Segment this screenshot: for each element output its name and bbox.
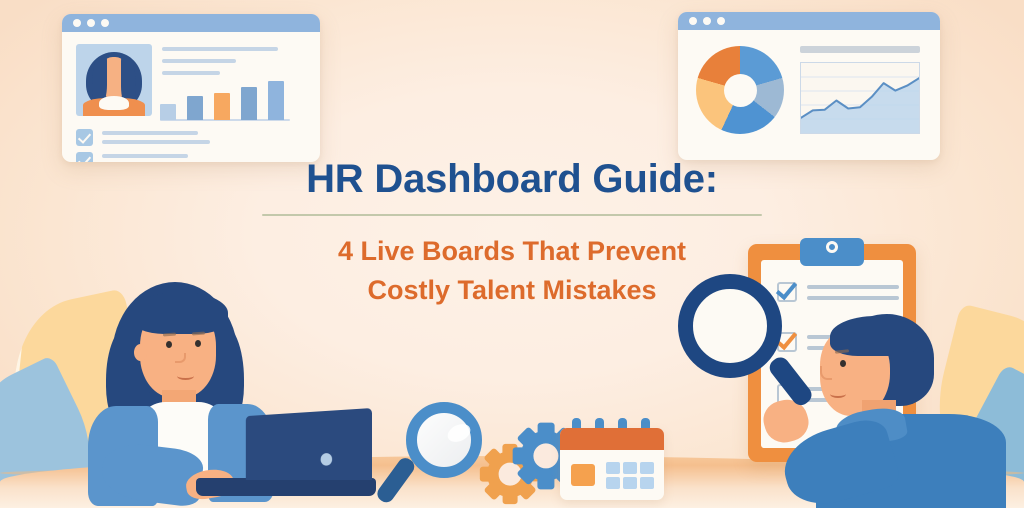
page-title: HR Dashboard Guide: — [0, 158, 1024, 200]
calendar-cell — [640, 462, 654, 474]
bar-chart-bar — [268, 81, 284, 120]
magnifying-glass-lens — [406, 402, 482, 478]
window-dot-close[interactable] — [689, 17, 697, 25]
bar-chart-bar — [187, 96, 203, 120]
laptop-logo — [321, 453, 332, 466]
laptop — [196, 408, 376, 504]
window-dot-maximize[interactable] — [101, 19, 109, 27]
employee-profile-dashboard-card — [62, 14, 320, 162]
bar-chart-bar — [160, 104, 176, 120]
woman-hair-fringe — [132, 292, 228, 334]
window-dot-minimize[interactable] — [703, 17, 711, 25]
window-dot-close[interactable] — [73, 19, 81, 27]
clipboard-clasp-hole — [826, 241, 838, 253]
calendar-cell — [640, 477, 654, 489]
calendar-cell — [623, 462, 637, 474]
calendar-header — [560, 428, 664, 450]
calendar-icon[interactable] — [560, 418, 664, 500]
woman-ear — [134, 344, 147, 361]
calendar-cell — [606, 462, 620, 474]
line-chart-area — [801, 78, 919, 133]
analytics-dashboard-card — [678, 12, 940, 160]
line-chart-svg — [801, 63, 919, 133]
line-chart — [800, 62, 920, 134]
donut-chart-center — [724, 74, 757, 107]
magnifying-glass-lens — [678, 274, 782, 378]
donut-chart — [696, 46, 784, 134]
woman-eye-left — [166, 341, 172, 348]
man-nose — [820, 366, 832, 380]
calendar-cell — [606, 477, 620, 489]
window-dot-maximize[interactable] — [717, 17, 725, 25]
window-dot-minimize[interactable] — [87, 19, 95, 27]
window-title-bar — [62, 14, 320, 32]
woman-mouth — [177, 372, 194, 380]
magnifying-glass-icon — [678, 274, 800, 410]
bar-chart-bar — [241, 87, 257, 120]
checkbox-checked-icon[interactable] — [76, 129, 93, 146]
profile-text-line — [162, 59, 236, 63]
laptop-screen — [246, 408, 372, 480]
profile-text-line — [162, 71, 220, 75]
magnifying-glass-icon[interactable] — [392, 402, 482, 502]
profile-text-line — [162, 47, 278, 51]
bar-chart — [160, 78, 290, 123]
title-divider — [262, 214, 762, 216]
avatar-collar — [99, 96, 129, 110]
chart-title-placeholder — [800, 46, 920, 53]
man-eye — [840, 360, 846, 367]
laptop-base — [196, 478, 376, 496]
calendar-highlight-cell — [571, 464, 595, 486]
man-mouth — [830, 390, 846, 398]
window-title-bar — [678, 12, 940, 30]
infographic-banner: HR Dashboard Guide: 4 Live Boards That P… — [0, 0, 1024, 508]
gear-tooth — [538, 423, 555, 437]
avatar — [76, 44, 152, 116]
calendar-body — [560, 428, 664, 500]
calendar-cell — [623, 477, 637, 489]
bar-chart-bar — [214, 93, 230, 120]
gear-tooth — [538, 475, 555, 489]
clipboard-clasp — [800, 238, 864, 266]
checklist-text — [102, 131, 210, 144]
magnifying-glass-glint — [445, 421, 474, 446]
man-with-clipboard — [690, 232, 1024, 508]
gear-tooth — [513, 448, 527, 465]
woman-eye-right — [195, 340, 201, 347]
clipboard-item-text — [807, 282, 899, 300]
center-icon-row — [388, 396, 668, 508]
checklist-item[interactable] — [76, 129, 210, 146]
calendar-grid — [606, 462, 654, 489]
